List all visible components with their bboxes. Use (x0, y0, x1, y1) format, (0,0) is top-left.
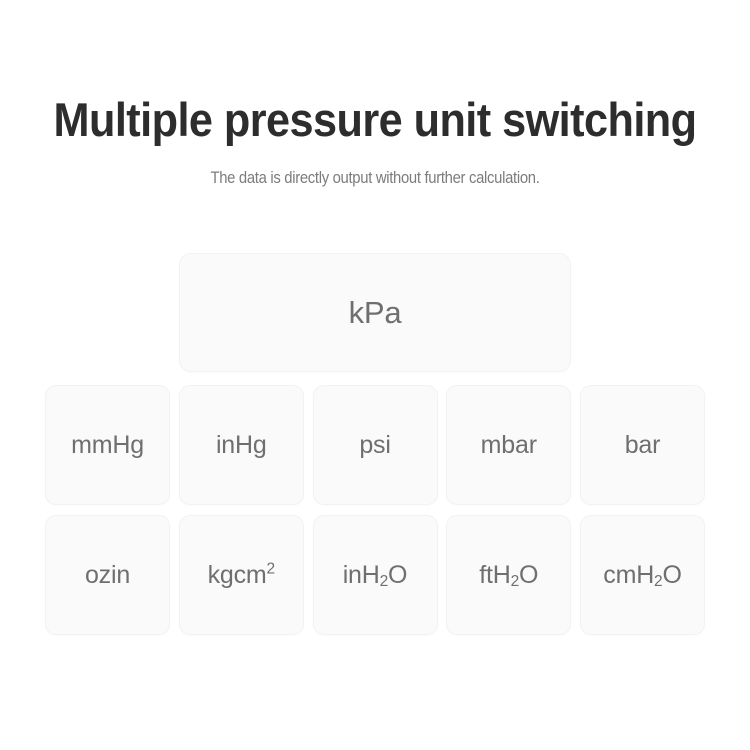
unit-label-kgcm2-base: kgcm (208, 561, 267, 589)
unit-label-fth2o: ftH2O (479, 563, 538, 588)
unit-label-fth2o-tail: O (519, 561, 538, 589)
unit-label-cmh2o: cmH2O (603, 563, 681, 588)
unit-box-mmhg[interactable]: mmHg (45, 385, 170, 505)
unit-label-mbar: mbar (481, 433, 537, 458)
unit-label-kgcm2: kgcm2 (208, 563, 275, 588)
unit-label-bar: bar (625, 433, 661, 458)
unit-label-inh2o-base: inH (343, 561, 380, 589)
unit-box-inh2o[interactable]: inH2O (313, 515, 438, 635)
unit-row-two: mmHg inHg psi mbar bar (45, 385, 705, 505)
page-title: Multiple pressure unit switching (30, 96, 720, 143)
unit-label-kgcm2-sup: 2 (267, 560, 275, 577)
unit-label-mmhg: mmHg (71, 433, 144, 458)
unit-label-ozin: ozin (85, 563, 130, 588)
unit-box-mbar[interactable]: mbar (446, 385, 571, 505)
unit-label-inh2o: inH2O (343, 563, 408, 588)
unit-label-cmh2o-tail: O (662, 561, 681, 589)
unit-box-kpa[interactable]: kPa (179, 253, 571, 372)
unit-label-inh2o-tail: O (388, 561, 407, 589)
unit-label-kpa: kPa (349, 297, 402, 328)
unit-box-psi[interactable]: psi (313, 385, 438, 505)
unit-box-bar[interactable]: bar (580, 385, 705, 505)
unit-label-ozin-base: ozin (85, 561, 130, 589)
header-block: Multiple pressure unit switching The dat… (0, 96, 750, 188)
unit-label-cmh2o-base: cmH (603, 561, 654, 589)
unit-label-inh2o-sub: 2 (380, 572, 388, 589)
unit-box-kgcm2[interactable]: kgcm2 (179, 515, 304, 635)
unit-row-featured: kPa (45, 253, 705, 372)
pressure-unit-grid: kPa mmHg inHg psi mbar bar ozin (45, 253, 705, 635)
unit-row-three: ozin kgcm2 inH2O ftH2O cmH2O (45, 515, 705, 635)
unit-label-fth2o-base: ftH (479, 561, 510, 589)
pressure-unit-switching-page: Multiple pressure unit switching The dat… (0, 0, 750, 750)
unit-box-inhg[interactable]: inHg (179, 385, 304, 505)
unit-box-fth2o[interactable]: ftH2O (446, 515, 571, 635)
unit-label-inhg: inHg (216, 433, 267, 458)
unit-box-ozin[interactable]: ozin (45, 515, 170, 635)
page-subtitle: The data is directly output without furt… (38, 169, 713, 188)
unit-label-psi: psi (359, 433, 390, 458)
unit-label-fth2o-sub: 2 (511, 572, 519, 589)
unit-box-cmh2o[interactable]: cmH2O (580, 515, 705, 635)
